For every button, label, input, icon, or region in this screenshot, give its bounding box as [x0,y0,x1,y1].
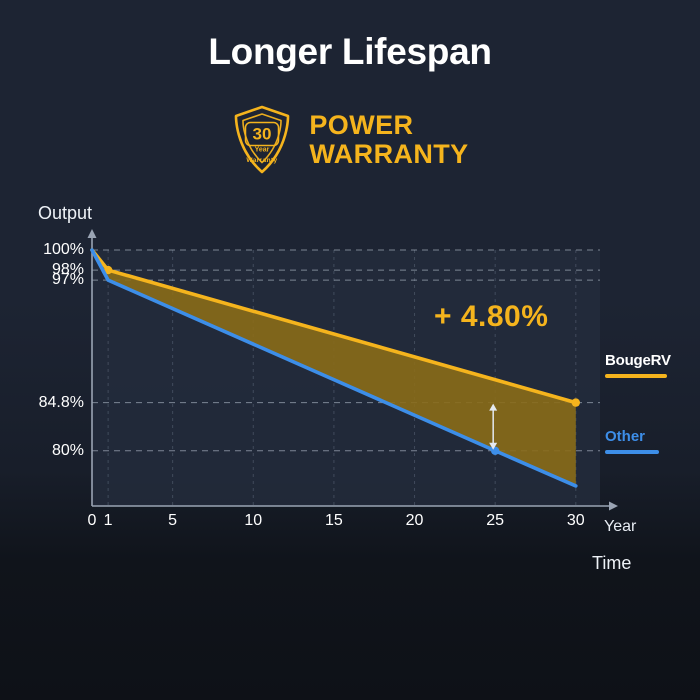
degradation-line-chart [0,0,700,700]
legend-swatch-other [605,450,659,454]
legend-item-other: Other [605,428,659,454]
delta-annotation: + 4.80% [434,300,548,334]
infographic-root: Longer Lifespan 30 Year Warranty POWER W… [0,0,700,700]
legend-label-other: Other [605,428,659,445]
legend-swatch-bougerv [605,374,667,378]
y-axis-arrow [88,229,97,238]
legend-label-bougerv: BougeRV [605,352,671,369]
x-axis-arrow [609,502,618,511]
series-marker-bougerv [572,398,580,406]
legend-item-bougerv: BougeRV [605,352,671,378]
